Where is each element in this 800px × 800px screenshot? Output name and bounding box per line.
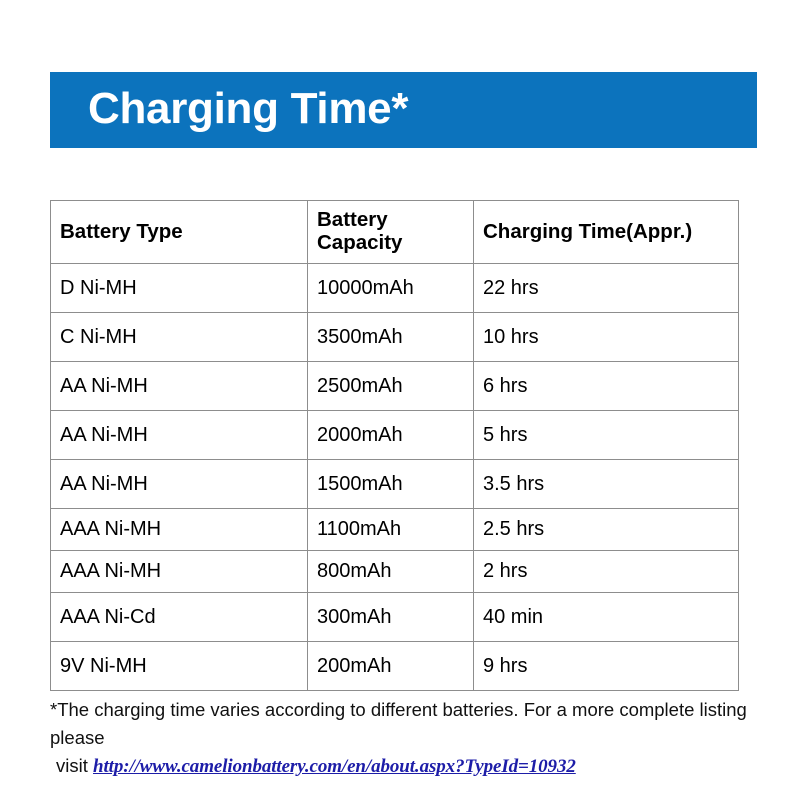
cell-charging-time: 2.5 hrs xyxy=(474,509,739,551)
cell-battery-type: AA Ni-MH xyxy=(51,411,308,460)
cell-battery-capacity: 1100mAh xyxy=(308,509,474,551)
cell-battery-capacity: 800mAh xyxy=(308,551,474,593)
cell-battery-capacity: 300mAh xyxy=(308,593,474,642)
camelion-battery-link[interactable]: http://www.camelionbattery.com/en/about.… xyxy=(93,756,576,777)
table-row: D Ni-MH 10000mAh 22 hrs xyxy=(51,264,739,313)
cell-charging-time: 40 min xyxy=(474,593,739,642)
cell-charging-time: 3.5 hrs xyxy=(474,460,739,509)
footnote: *The charging time varies according to d… xyxy=(50,696,790,782)
cell-battery-capacity: 1500mAh xyxy=(308,460,474,509)
table-row: AAA Ni-MH 1100mAh 2.5 hrs xyxy=(51,509,739,551)
table-row: AA Ni-MH 2500mAh 6 hrs xyxy=(51,362,739,411)
column-header-battery-type: Battery Type xyxy=(51,201,308,264)
footnote-line-1: *The charging time varies according to d… xyxy=(50,699,747,748)
cell-battery-capacity: 2000mAh xyxy=(308,411,474,460)
cell-charging-time: 6 hrs xyxy=(474,362,739,411)
column-header-capacity-line2: Capacity xyxy=(317,232,473,255)
table-body: D Ni-MH 10000mAh 22 hrs C Ni-MH 3500mAh … xyxy=(51,264,739,691)
cell-battery-type: AAA Ni-Cd xyxy=(51,593,308,642)
cell-charging-time: 10 hrs xyxy=(474,313,739,362)
table-row: AAA Ni-Cd 300mAh 40 min xyxy=(51,593,739,642)
cell-battery-type: AAA Ni-MH xyxy=(51,509,308,551)
footnote-visit-label: visit xyxy=(56,755,93,776)
header-banner: Charging Time* xyxy=(50,72,757,148)
table-header-row: Battery Type Battery Capacity Charging T… xyxy=(51,201,739,264)
cell-battery-type: AAA Ni-MH xyxy=(51,551,308,593)
cell-battery-capacity: 10000mAh xyxy=(308,264,474,313)
page-root: Charging Time* Battery Type Battery Capa… xyxy=(0,0,800,800)
cell-charging-time: 9 hrs xyxy=(474,642,739,691)
table-row: AAA Ni-MH 800mAh 2 hrs xyxy=(51,551,739,593)
cell-battery-capacity: 3500mAh xyxy=(308,313,474,362)
cell-battery-type: AA Ni-MH xyxy=(51,362,308,411)
cell-battery-type: D Ni-MH xyxy=(51,264,308,313)
cell-charging-time: 2 hrs xyxy=(474,551,739,593)
cell-battery-type: 9V Ni-MH xyxy=(51,642,308,691)
cell-charging-time: 22 hrs xyxy=(474,264,739,313)
footnote-line-2: visit http://www.camelionbattery.com/en/… xyxy=(50,752,790,782)
cell-battery-type: C Ni-MH xyxy=(51,313,308,362)
column-header-capacity-line1: Battery xyxy=(317,209,473,232)
column-header-charging-time: Charging Time(Appr.) xyxy=(474,201,739,264)
page-title: Charging Time* xyxy=(88,87,408,131)
table-row: 9V Ni-MH 200mAh 9 hrs xyxy=(51,642,739,691)
charging-time-table-wrapper: Battery Type Battery Capacity Charging T… xyxy=(50,200,738,691)
table-row: C Ni-MH 3500mAh 10 hrs xyxy=(51,313,739,362)
column-header-battery-capacity: Battery Capacity xyxy=(308,201,474,264)
cell-battery-capacity: 2500mAh xyxy=(308,362,474,411)
table-row: AA Ni-MH 1500mAh 3.5 hrs xyxy=(51,460,739,509)
table-row: AA Ni-MH 2000mAh 5 hrs xyxy=(51,411,739,460)
charging-time-table: Battery Type Battery Capacity Charging T… xyxy=(50,200,739,691)
cell-battery-type: AA Ni-MH xyxy=(51,460,308,509)
cell-battery-capacity: 200mAh xyxy=(308,642,474,691)
cell-charging-time: 5 hrs xyxy=(474,411,739,460)
table-header: Battery Type Battery Capacity Charging T… xyxy=(51,201,739,264)
